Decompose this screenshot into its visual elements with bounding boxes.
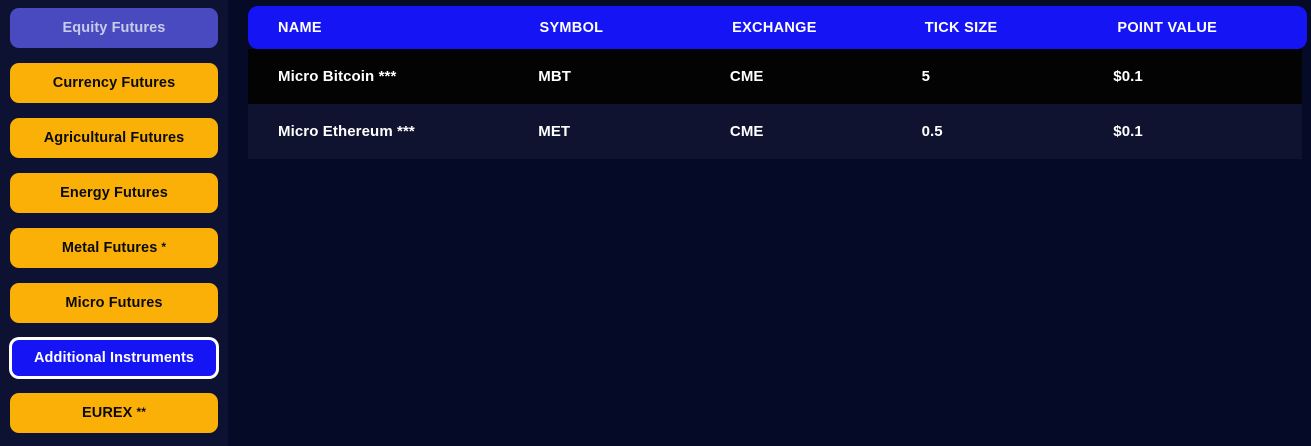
cell-symbol: MBT <box>538 68 730 85</box>
sidebar-item-currency-futures[interactable]: Currency Futures <box>10 63 218 103</box>
sidebar-item-label: EUREX <box>82 405 132 421</box>
sidebar-item-label: Micro Futures <box>65 295 162 311</box>
sidebar-item-energy-futures[interactable]: Energy Futures <box>10 173 218 213</box>
cell-exchange: CME <box>730 68 922 85</box>
table-header-row: NAMESYMBOLEXCHANGETICK SIZEPOINT VALUE <box>248 6 1307 49</box>
cell-tick: 0.5 <box>922 123 1114 140</box>
sidebar-item-label: Additional Instruments <box>34 350 194 366</box>
cell-name: Micro Ethereum *** <box>248 123 538 140</box>
cell-symbol: MET <box>538 123 730 140</box>
cell-name: Micro Bitcoin *** <box>248 68 538 85</box>
sidebar-item-label: Equity Futures <box>63 20 166 36</box>
cell-point: $0.1 <box>1113 68 1302 85</box>
sidebar-item-metal-futures[interactable]: Metal Futures* <box>10 228 218 268</box>
column-header-tick[interactable]: TICK SIZE <box>925 20 1118 36</box>
sidebar-item-label: Metal Futures <box>62 240 158 256</box>
sidebar-item-equity-futures[interactable]: Equity Futures <box>10 8 218 48</box>
sidebar-item-label: Agricultural Futures <box>44 130 185 146</box>
cell-tick: 5 <box>922 68 1114 85</box>
instruments-table: NAMESYMBOLEXCHANGETICK SIZEPOINT VALUE M… <box>248 6 1285 159</box>
column-header-exchange[interactable]: EXCHANGE <box>732 20 925 36</box>
cell-exchange: CME <box>730 123 922 140</box>
instrument-browser-window: Equity FuturesCurrency FuturesAgricultur… <box>0 0 1311 446</box>
column-header-symbol[interactable]: SYMBOL <box>539 20 732 36</box>
sidebar-item-label: Energy Futures <box>60 185 168 201</box>
column-header-point[interactable]: POINT VALUE <box>1117 20 1307 36</box>
category-sidebar: Equity FuturesCurrency FuturesAgricultur… <box>0 0 228 446</box>
sidebar-item-eurex[interactable]: EUREX** <box>10 393 218 433</box>
table-body: Micro Bitcoin ***MBTCME5$0.1Micro Ethere… <box>248 49 1285 159</box>
table-row[interactable]: Micro Ethereum ***METCME0.5$0.1 <box>248 104 1302 159</box>
main-content: NAMESYMBOLEXCHANGETICK SIZEPOINT VALUE M… <box>228 0 1311 446</box>
table-row[interactable]: Micro Bitcoin ***MBTCME5$0.1 <box>248 49 1302 104</box>
sidebar-item-additional-instruments[interactable]: Additional Instruments <box>10 338 218 378</box>
sidebar-item-agricultural-futures[interactable]: Agricultural Futures <box>10 118 218 158</box>
sidebar-item-footnote-marker: * <box>161 241 166 253</box>
sidebar-item-micro-futures[interactable]: Micro Futures <box>10 283 218 323</box>
cell-point: $0.1 <box>1113 123 1302 140</box>
column-header-name[interactable]: NAME <box>248 20 539 36</box>
sidebar-item-footnote-marker: ** <box>136 406 146 418</box>
sidebar-item-label: Currency Futures <box>53 75 175 91</box>
